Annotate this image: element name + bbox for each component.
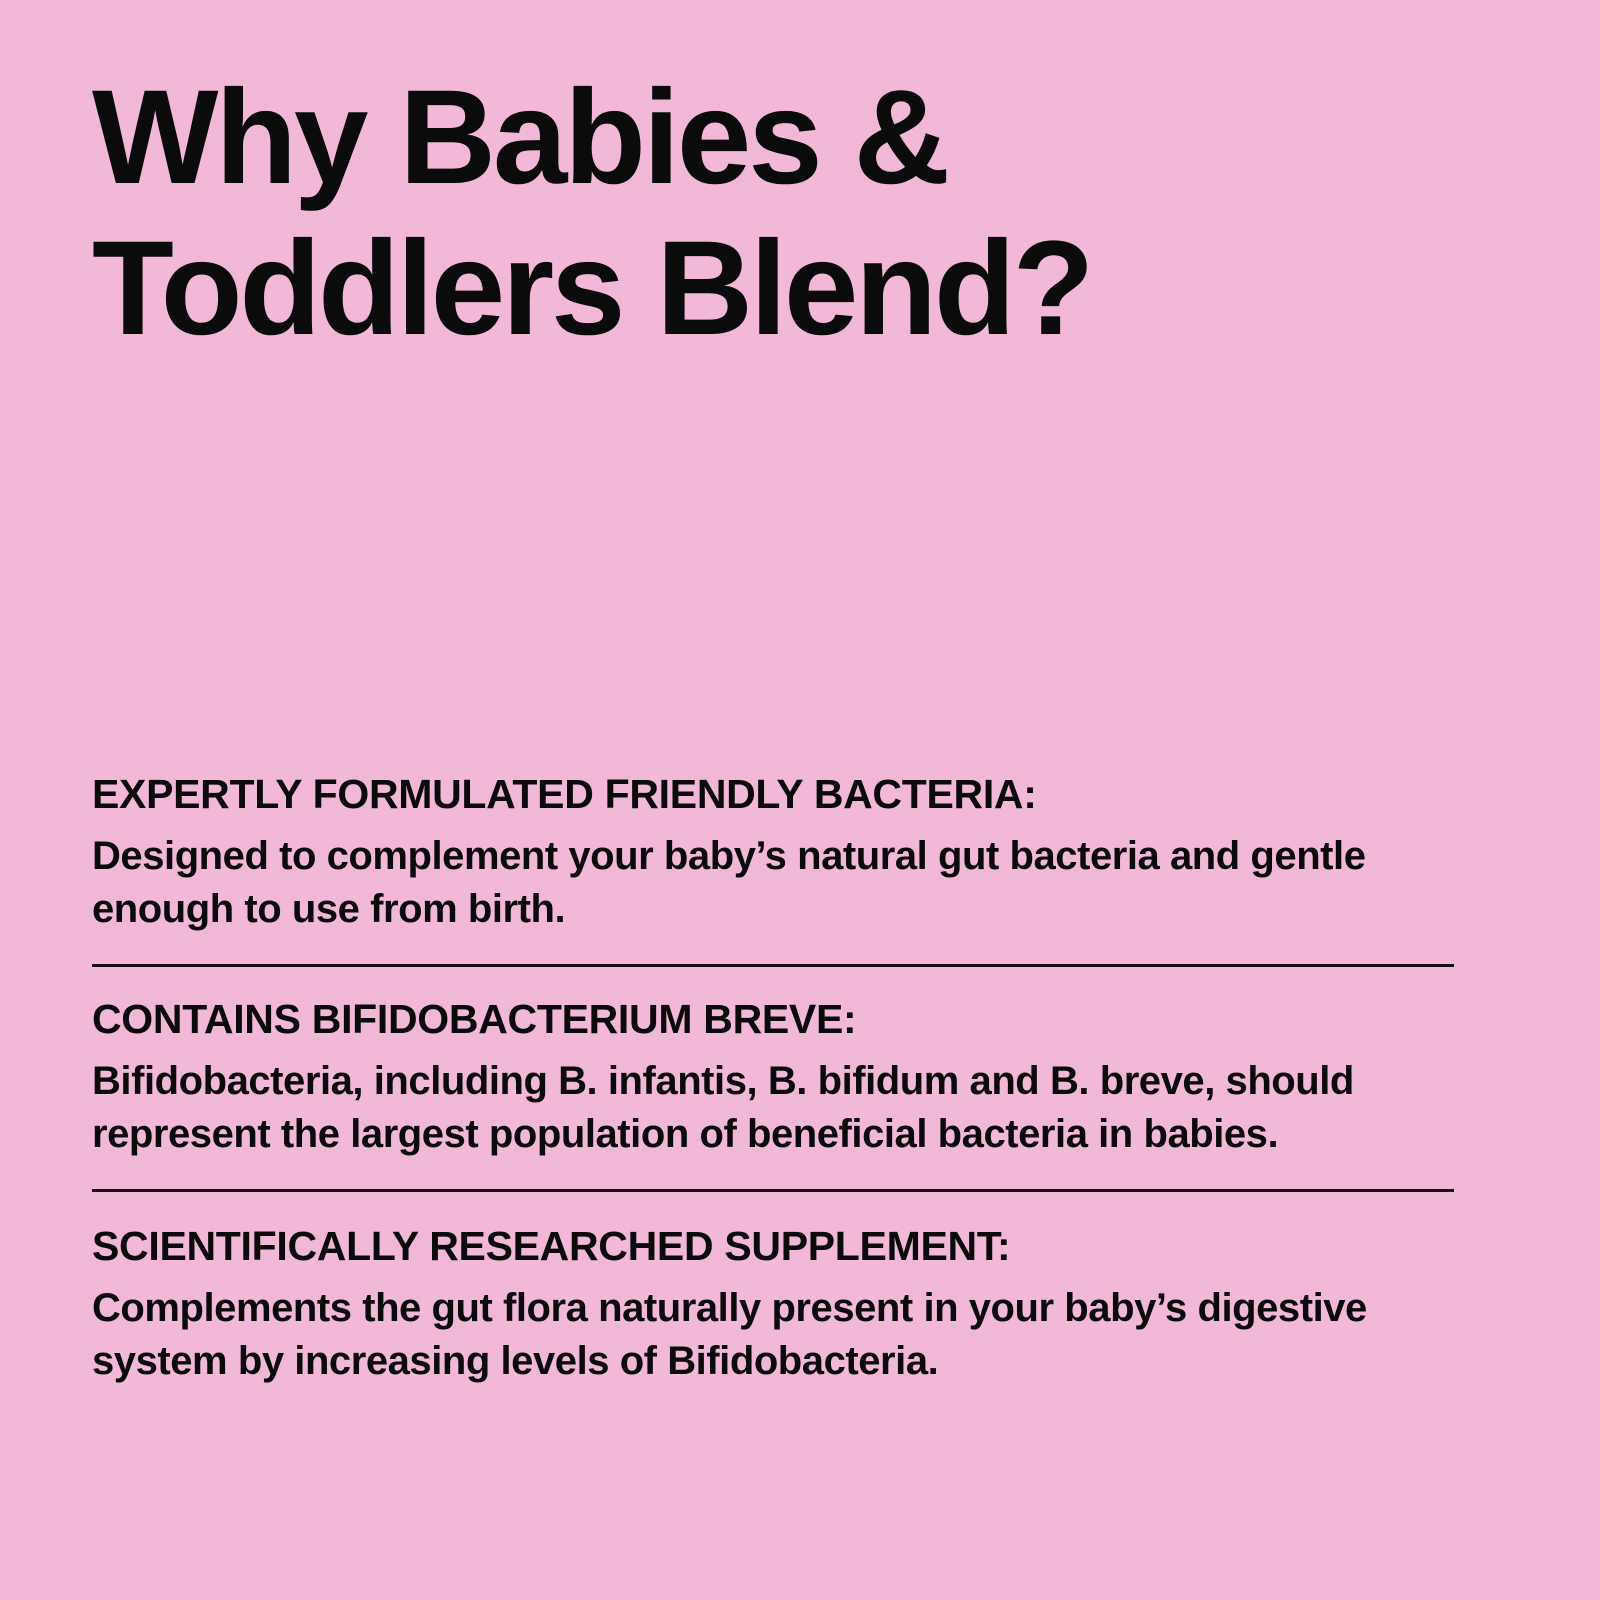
feature-body: Designed to complement your baby’s natur… <box>92 830 1444 936</box>
page-title: Why Babies & Toddlers Blend? <box>92 62 1192 364</box>
feature-item-scientifically-researched-supplement: SCIENTIFICALLY RESEARCHED SUPPLEMENT: Co… <box>92 1192 1454 1388</box>
feature-item-expertly-formulated: EXPERTLY FORMULATED FRIENDLY BACTERIA: D… <box>92 768 1454 964</box>
feature-body: Bifidobacteria, including B. infantis, B… <box>92 1055 1444 1161</box>
page-title-block: Why Babies & Toddlers Blend? <box>92 62 1192 364</box>
feature-body: Complements the gut flora naturally pres… <box>92 1282 1444 1388</box>
product-info-panel: Why Babies & Toddlers Blend? EXPERTLY FO… <box>0 0 1600 1600</box>
feature-heading: EXPERTLY FORMULATED FRIENDLY BACTERIA: <box>92 768 1454 820</box>
feature-list: EXPERTLY FORMULATED FRIENDLY BACTERIA: D… <box>92 768 1454 1388</box>
feature-heading: CONTAINS BIFIDOBACTERIUM BREVE: <box>92 993 1454 1045</box>
feature-heading: SCIENTIFICALLY RESEARCHED SUPPLEMENT: <box>92 1220 1454 1272</box>
feature-item-contains-bifidobacterium-breve: CONTAINS BIFIDOBACTERIUM BREVE: Bifidoba… <box>92 967 1454 1189</box>
